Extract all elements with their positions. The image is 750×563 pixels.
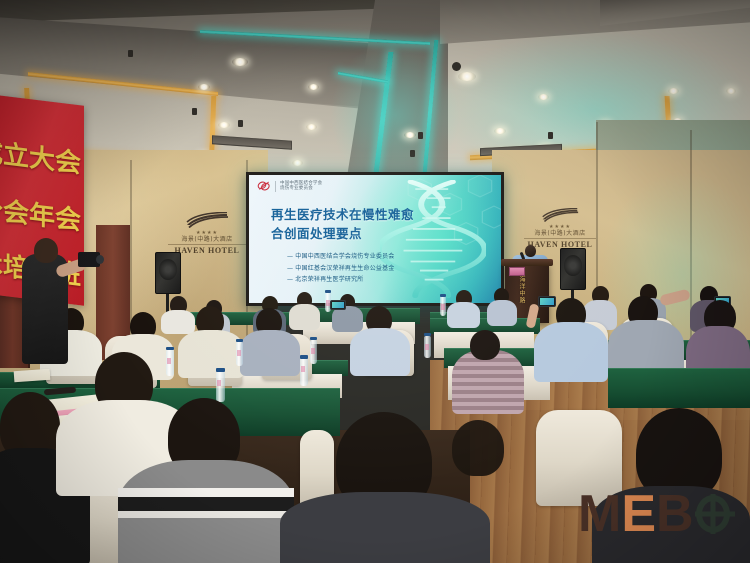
downlight [668,88,679,94]
sprinkler-head [410,150,415,157]
downlight [198,84,210,90]
shirt-stripe [118,497,294,511]
presenter-head [525,245,536,257]
phone-screen [332,302,344,308]
org-name-line-2: 烧伤专业委员会 [280,186,322,192]
water-bottle [300,358,308,386]
conference-hall-photo: 会成立大会 分会年会 术培训班 ★★★★ 海景(中路)大酒店 HAVEN HOT… [0,0,750,563]
downlight [458,72,476,81]
teal-glow [330,40,460,182]
ceiling-camera [452,62,461,71]
downlight [494,128,506,134]
podium-laptop [509,267,525,276]
pa-speaker-right [560,248,586,290]
hotel-logo-rule [524,238,596,239]
logo-divider [275,181,276,192]
foreground-body [280,492,490,563]
water-bottle [440,296,446,316]
hotel-name-cn: 海景(中路)大酒店 [524,230,596,237]
bottle-cap [216,368,225,372]
sprinkler-head [548,132,553,139]
shirt-stripe [118,511,294,518]
phone-screen [540,298,554,305]
haven-hotel-logo-left: ★★★★ 海景(中路)大酒店 HAVEN HOTEL [168,212,246,255]
bottle-cap [325,290,331,293]
sprinkler-head [192,108,197,115]
downlight [306,124,317,130]
organization-logo: 中国中西医结合学会 烧伤专业委员会 [257,180,322,192]
watermark-letter-m: M [578,492,620,536]
water-bottle [166,350,174,376]
smartphone-recording [538,296,556,307]
downlight [404,132,416,138]
hotel-logo-rule [168,244,246,245]
podium-top [501,259,553,266]
sprinkler-head [238,120,243,127]
bottle-cap [424,333,431,336]
banner-line-2: 分会年会 [0,190,84,238]
downlight [232,58,248,66]
water-bottle [310,340,317,364]
org-logo-icon [257,180,271,192]
foreground-head [452,420,504,476]
watermark-letter-b: B [656,492,693,536]
bottle-cap [166,347,174,350]
audience-body [534,322,608,382]
mebo-watermark: M E B [578,492,730,536]
audience-body [178,330,244,378]
audience-body [289,304,320,330]
audience-body [161,310,195,334]
smartphone-recording [330,300,346,310]
haven-wave-icon [185,212,229,228]
video-camera-lens-icon [96,255,104,264]
sprinkler-head [418,132,423,139]
slide-subtitle-1: — 中国中西医结合学会烧伤专业委员会 [273,251,443,263]
bottle-cap [310,337,317,340]
sprinkler-head [128,50,133,57]
podium-text: 海洋中路 [517,276,526,304]
bottle-cap [300,355,308,359]
org-logo-text: 中国中西医结合学会 烧伤专业委员会 [280,181,322,192]
cameraman-head [34,238,58,263]
haven-hotel-logo-right: ★★★★ 海景(中路)大酒店 HAVEN HOTEL [524,208,596,249]
haven-wave-icon [541,208,579,222]
led-presentation-screen: 中国中西医结合学会 烧伤专业委员会 再生医疗技术在慢性难愈 合创面处理要点 — … [246,172,504,306]
audience-body [240,330,300,376]
banner-line-1: 会成立大会 [0,133,84,181]
downlight [538,94,549,100]
slide-title-line-2: 合创面处理要点 [271,224,431,243]
water-bottle [236,342,243,366]
water-bottle [424,336,431,358]
audience-body [447,302,480,328]
audience-body [487,300,517,326]
bottle-cap [440,294,446,297]
shirt-stripe [118,488,294,497]
downlight [726,88,736,94]
slide-title-line-1: 再生医疗技术在慢性难愈 [271,205,431,224]
audience-table-front [608,368,750,408]
audience-head [470,330,500,360]
audience-body [350,328,410,376]
downlight [218,122,230,128]
slide-title: 再生医疗技术在慢性难愈 合创面处理要点 [271,205,431,243]
slide-subtitle-2: — 中国红基会汉荣祥再生生命公益基金 [273,263,443,275]
slide-subtitles: — 中国中西医结合学会烧伤专业委员会 — 中国红基会汉荣祥再生生命公益基金 — … [273,251,443,286]
downlight [292,160,303,166]
watermark-letter-o-icon [696,495,730,533]
bottle-cap [236,339,243,342]
slide-background: 中国中西医结合学会 烧伤专业委员会 再生医疗技术在慢性难愈 合创面处理要点 — … [249,175,501,303]
slide-subtitle-3: — 北京荣祥再生医学研究所 [273,274,443,286]
water-bottle [216,372,225,402]
pa-speaker-left [155,252,181,294]
hotel-name-cn: 海景(中路)大酒店 [168,236,246,243]
downlight [308,84,319,90]
watermark-letter-e: E [621,492,655,536]
